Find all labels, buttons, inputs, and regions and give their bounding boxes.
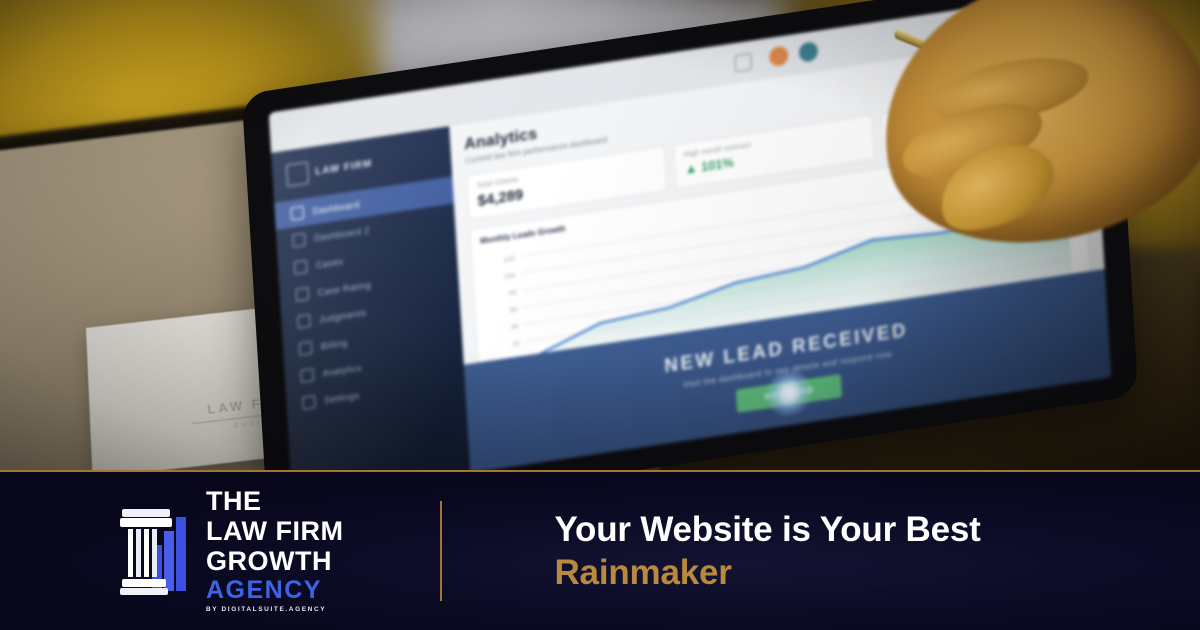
sidebar-label: Cases (316, 256, 344, 270)
gavel-icon (297, 314, 311, 329)
avatar-teal[interactable] (798, 41, 818, 63)
dashboard-sidebar: LAW FIRM Dashboard Dashboard 2 (271, 126, 470, 470)
star-icon (295, 287, 309, 302)
logo-line-2: LAW FIRM (206, 518, 343, 545)
promo-banner: ⚖ LAW FIRM NAME BUSINESS CARD LAW FIRM (0, 0, 1200, 630)
sidebar-label: Dashboard 2 (314, 225, 370, 243)
sidebar-label: Settings (324, 390, 360, 405)
invoice-icon (299, 341, 313, 356)
sidebar-label: Billing (321, 337, 348, 351)
svg-text:60: 60 (510, 306, 518, 314)
folder-icon (294, 260, 308, 275)
sidebar-nav: Dashboard Dashboard 2 Cases Case Ra (274, 176, 465, 419)
svg-text:80: 80 (509, 289, 517, 297)
notification-icon[interactable] (734, 53, 752, 73)
logo-line-1: THE (206, 488, 343, 515)
svg-text:20: 20 (512, 341, 520, 349)
avatar-orange[interactable] (769, 45, 789, 67)
logo-line-4: AGENCY (206, 578, 343, 603)
svg-text:120: 120 (503, 255, 515, 263)
svg-text:40: 40 (511, 324, 519, 332)
sidebar-brand-label: LAW FIRM (315, 158, 372, 178)
logo-line-3: GROWTH (206, 548, 343, 575)
svg-text:100: 100 (504, 272, 516, 280)
agency-logo[interactable]: THE LAW FIRM GROWTH AGENCY BY DIGITALSUI… (118, 488, 343, 614)
agency-logo-text: THE LAW FIRM GROWTH AGENCY BY DIGITALSUI… (206, 488, 343, 614)
view-lead-label: VIEW LEAD (764, 385, 814, 401)
scales-icon (286, 162, 309, 187)
headline-line-1: Your Website is Your Best (554, 512, 980, 547)
sidebar-label: Judgments (319, 307, 367, 324)
vertical-divider (440, 501, 442, 601)
gear-icon (302, 395, 316, 410)
view-lead-button[interactable]: VIEW LEAD (736, 374, 842, 413)
stat-number: 101% (701, 155, 735, 175)
sidebar-label: Dashboard (312, 199, 360, 216)
chart-icon (292, 233, 306, 248)
logo-byline: BY DIGITALSUITE.AGENCY (206, 607, 343, 614)
trend-up-icon: ▲ (684, 160, 698, 177)
hero-photo: ⚖ LAW FIRM NAME BUSINESS CARD LAW FIRM (0, 0, 1200, 470)
column-bar-chart-logo-icon (118, 505, 190, 597)
grid-icon (290, 206, 304, 221)
sidebar-label: Analytics (322, 362, 362, 378)
sidebar-label: Case Rating (317, 279, 371, 297)
analytics-icon (300, 368, 314, 383)
headline: Your Website is Your Best Rainmaker (554, 512, 980, 590)
headline-line-2: Rainmaker (554, 555, 980, 590)
brand-footer: THE LAW FIRM GROWTH AGENCY BY DIGITALSUI… (0, 470, 1200, 630)
